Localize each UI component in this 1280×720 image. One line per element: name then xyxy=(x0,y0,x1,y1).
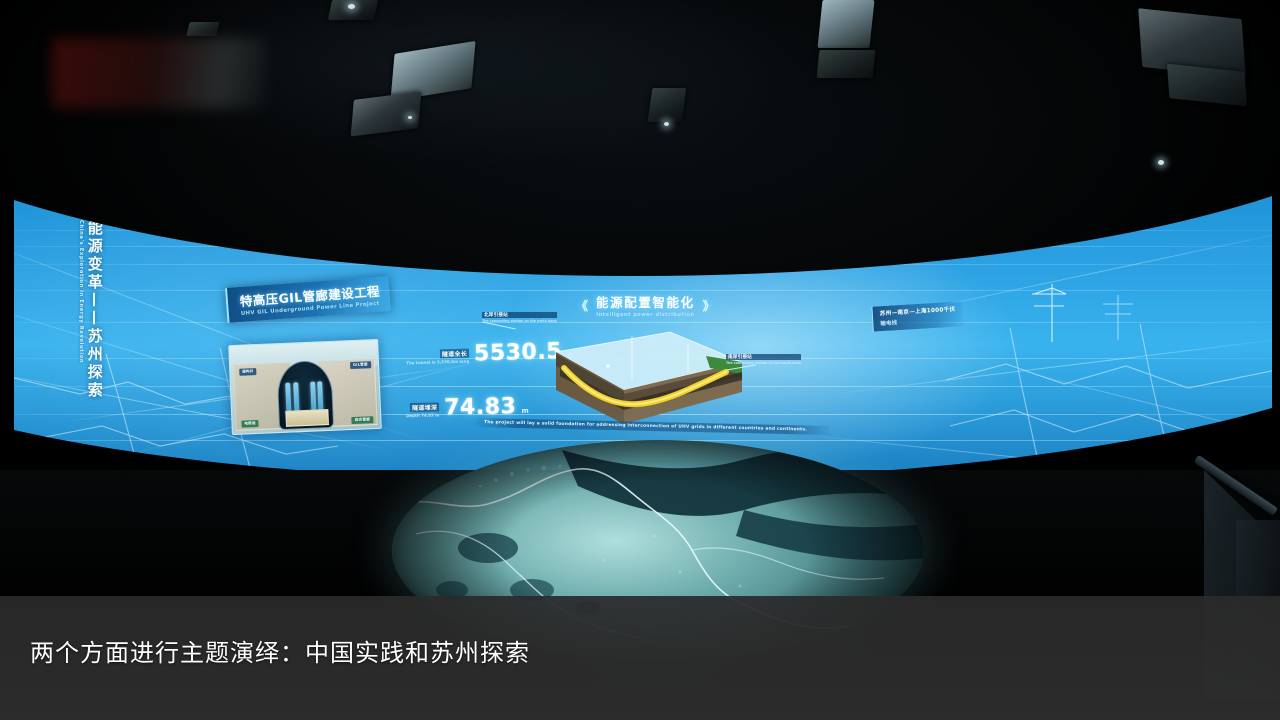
ceiling-spot-center xyxy=(664,122,669,126)
curved-led-screen-wrapper: 能源变革——苏州探索 China's Exploration in Energy… xyxy=(0,172,1280,472)
photo-tag-right: GIL管廊 xyxy=(350,361,371,369)
photo-tag-bottom-right: 综合管廊 xyxy=(352,416,373,424)
callout-north-en: The connecting station on the north bank xyxy=(482,319,557,323)
center-section-title: 《 能源配置智能化 Intelligent power distribution… xyxy=(576,292,715,318)
tunnel-section-photo-card: 盾构井 GIL管廊 电缆层 综合管廊 xyxy=(228,339,382,435)
right-plate-line2: 输电线 xyxy=(880,315,956,327)
ceiling-spot-far-right xyxy=(1158,160,1164,165)
callout-south-station: 南岸引接站 The connecting station on the sout… xyxy=(726,354,801,368)
photo-tag-bottom-left: 电缆层 xyxy=(241,420,259,428)
stat-tunnel-depth: 隧道埋深 Depth 74.83 m 74.83 m xyxy=(406,397,529,420)
stat-depth-value: 74.83 xyxy=(444,397,516,419)
stat-depth-label-zh: 隧道埋深 xyxy=(410,402,439,412)
projector-indicator-dot xyxy=(408,116,412,119)
callout-south-zh: 南岸引接站 xyxy=(726,354,801,360)
stat-depth-label-en: Depth 74.83 m xyxy=(406,412,439,418)
left-vertical-headline: 能源变革——苏州探索 China's Exploration in Energy… xyxy=(78,220,102,400)
callout-south-en: The connecting station on the south bank xyxy=(726,361,801,365)
center-title-en: Intelligent power distribution xyxy=(596,312,694,318)
stat-length-label-zh: 隧道全长 xyxy=(440,348,469,358)
ceiling-rig-left xyxy=(186,22,219,36)
ceiling-spot-light xyxy=(348,4,355,9)
project-title-plate: 特高压GIL管廊建设工程 UHV GIL Underground Power L… xyxy=(225,276,391,323)
ceiling-rig-right-upper xyxy=(817,0,874,48)
screenshot-root: 能源变革——苏州探索 China's Exploration in Energy… xyxy=(0,0,1280,720)
photo-tag-left: 盾构井 xyxy=(239,368,257,376)
transmission-tower-icon-small xyxy=(1096,292,1140,342)
ceiling-rig-right-lower xyxy=(817,50,876,78)
bracket-right-icon: 》 xyxy=(703,297,715,314)
bracket-left-icon: 《 xyxy=(576,297,588,314)
photo-base-slab xyxy=(286,409,329,426)
callout-north-station: 北岸引接站 The connecting station on the nort… xyxy=(482,312,557,326)
ceiling-rig-center xyxy=(648,88,687,122)
right-map-outline xyxy=(940,322,1280,472)
transmission-tower-icon xyxy=(1022,280,1078,344)
stat-length-label-en: The tunnel is 5,530.5m long xyxy=(406,358,469,365)
ceiling-rig-box xyxy=(328,0,378,20)
center-title-zh: 能源配置智能化 xyxy=(596,292,695,311)
subtitle-text: 两个方面进行主题演绎：中国实践和苏州探索 xyxy=(30,633,530,668)
blurred-watermark xyxy=(52,38,267,108)
callout-north-zh: 北岸引接站 xyxy=(482,312,557,318)
left-headline-en: China's Exploration in Energy Revolution xyxy=(78,220,84,363)
left-headline-zh: 能源变革——苏州探索 xyxy=(86,220,102,400)
curved-led-screen: 能源变革——苏州探索 China's Exploration in Energy… xyxy=(0,172,1280,472)
